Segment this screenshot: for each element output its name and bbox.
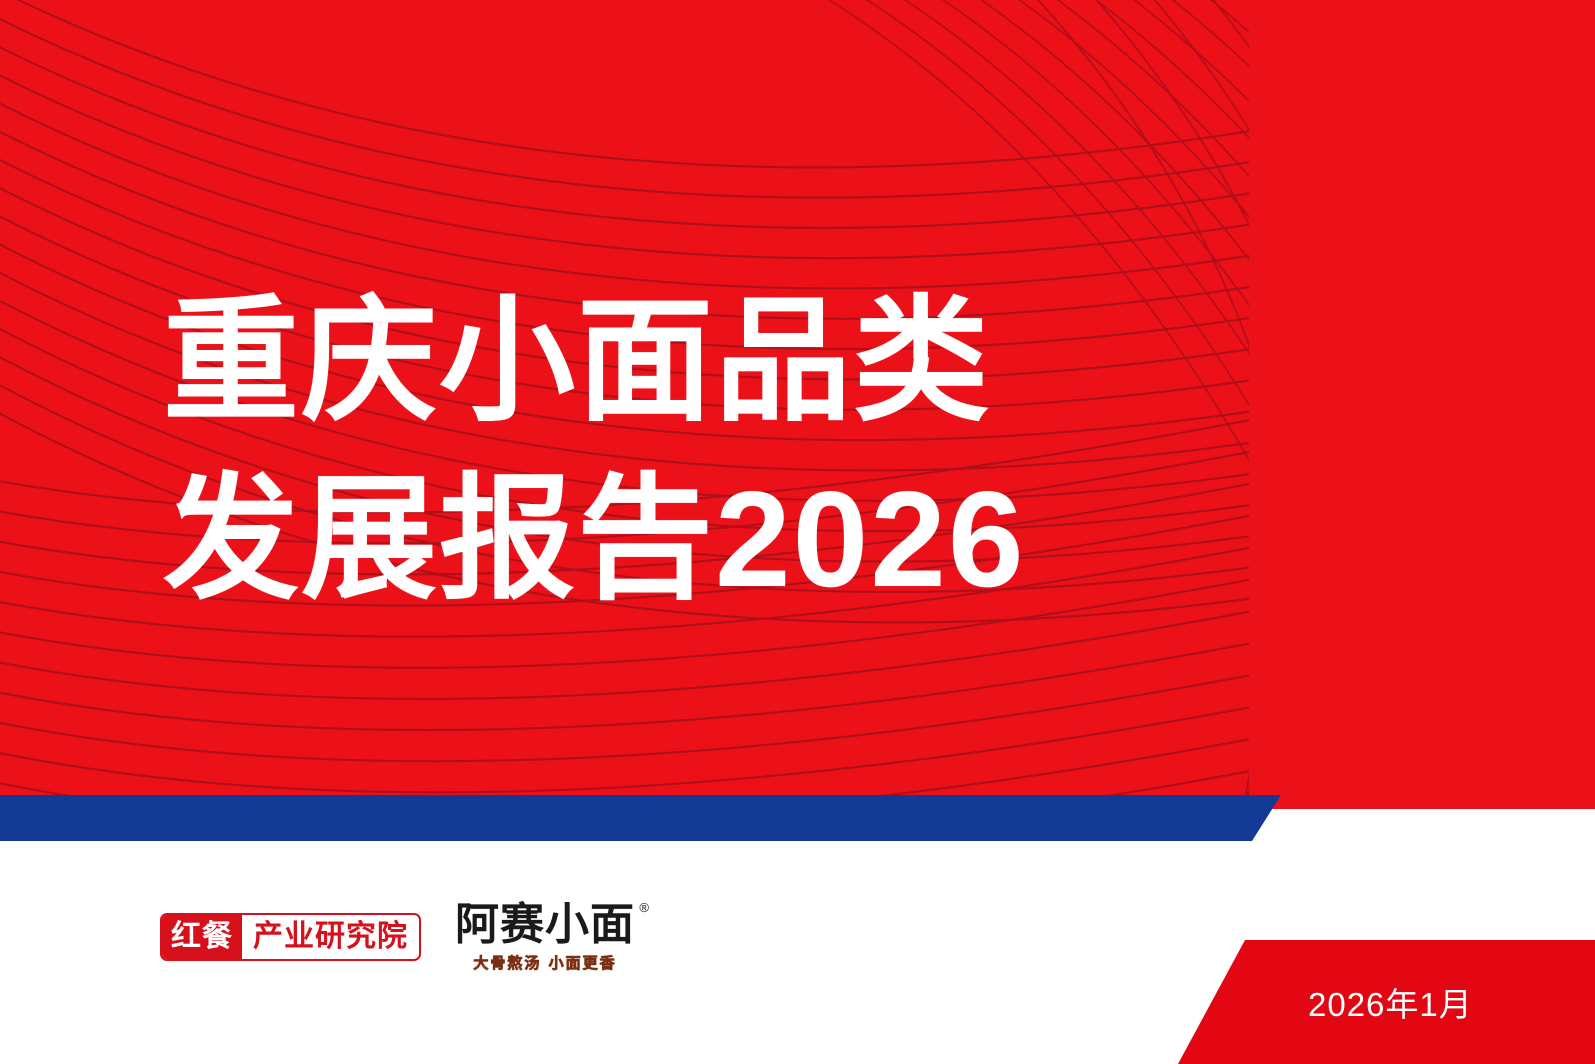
page-title: 重庆小面品类 发展报告2026: [163, 272, 1163, 628]
title-line-1: 重庆小面品类: [163, 272, 1163, 450]
date-badge: 2026年1月: [1178, 940, 1595, 1064]
title-line-2: 发展报告2026: [163, 450, 1163, 628]
logo-asai-xiaomian: 阿赛小面 ® 大骨熬汤 小面更香: [455, 901, 635, 973]
blue-accent-stripe: [0, 795, 1300, 841]
asai-tagline: 大骨熬汤 小面更香: [473, 952, 616, 973]
registered-trademark-icon: ®: [639, 901, 650, 914]
asai-brand-text: 阿赛小面: [455, 899, 635, 950]
logo-row: 红餐 产业研究院 阿赛小面 ® 大骨熬汤 小面更香: [160, 901, 635, 973]
date-badge-label: 2026年1月: [1178, 940, 1595, 1064]
hongcan-mark-text: 红餐: [162, 915, 242, 959]
asai-brand-name: 阿赛小面 ®: [455, 903, 635, 947]
cover-slide: 重庆小面品类 发展报告2026 红餐 产业研究院 阿赛小面 ® 大骨熬汤 小面更…: [0, 0, 1595, 1064]
hero-right-extension: [1249, 0, 1595, 809]
hongcan-institute-name: 产业研究院: [242, 915, 419, 959]
logo-hongcan-research-institute: 红餐 产业研究院: [160, 913, 421, 961]
